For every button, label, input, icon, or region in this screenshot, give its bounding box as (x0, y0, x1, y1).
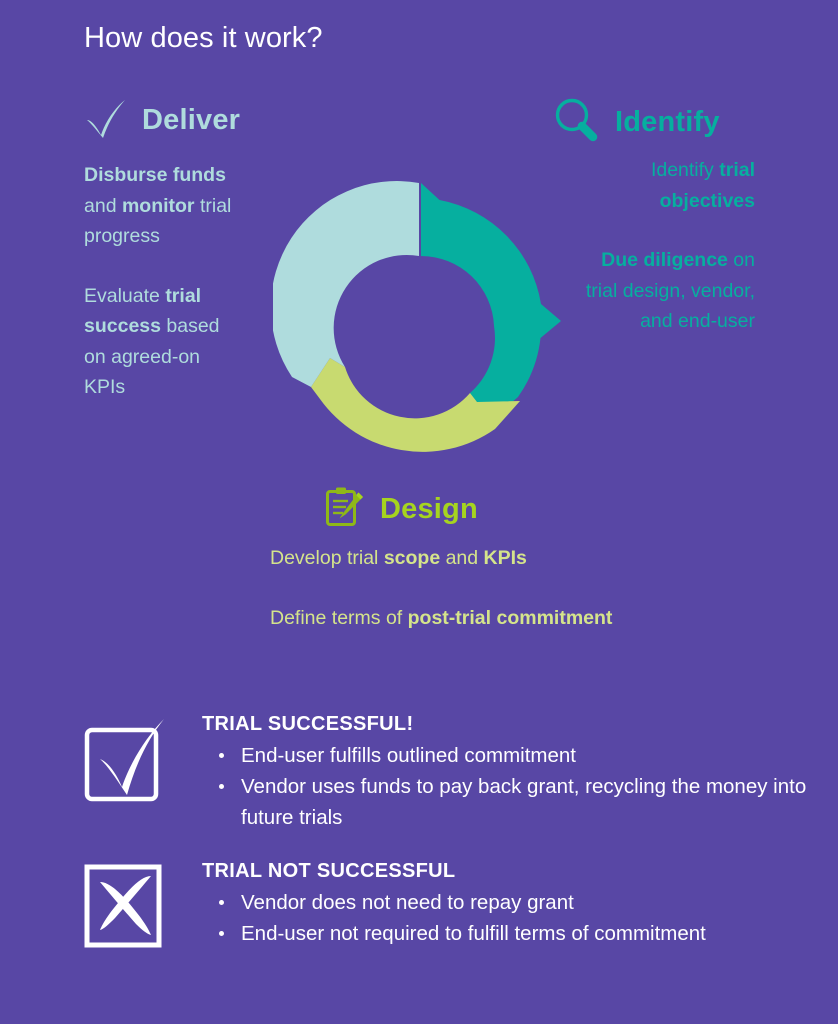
page-title: How does it work? (84, 22, 323, 55)
infographic-page: How does it work? Deliver Identify (0, 0, 838, 1024)
checked-checkbox-icon (84, 715, 168, 803)
paragraph: Disburse funds and monitor trial progres… (84, 160, 244, 252)
crossed-checkbox-icon (84, 862, 168, 950)
list-item: Vendor does not need to repay grant (202, 887, 706, 918)
outcome-trial-not-successful: TRIAL NOT SUCCESSFUL Vendor does not nee… (84, 859, 706, 950)
magnifying-glass-icon (551, 98, 601, 147)
paragraph: Evaluate trial success based on agreed-o… (84, 281, 244, 403)
list-item: End-user fulfills outlined commitment (202, 740, 838, 771)
section-heading-design: Design (322, 485, 478, 534)
section-heading-deliver: Deliver (84, 98, 240, 143)
check-mark-icon (84, 98, 128, 143)
paragraph: Define terms of post-trial commitment (270, 603, 640, 634)
section-heading-deliver-label: Deliver (142, 104, 240, 137)
section-heading-design-label: Design (380, 493, 478, 526)
cycle-segment-deliver (273, 181, 419, 387)
outcome-trial-successful: TRIAL SUCCESSFUL! End-user fulfills outl… (84, 712, 838, 833)
cycle-diagram (273, 181, 563, 471)
paragraph: Develop trial scope and KPIs (270, 543, 640, 574)
section-heading-identify: Identify (551, 98, 720, 147)
list-item: Vendor uses funds to pay back grant, rec… (202, 771, 838, 833)
outcome-bullet-list: Vendor does not need to repay grant End-… (202, 887, 706, 949)
cycle-segment-identify (421, 183, 561, 403)
identify-description: Identify trial objectivesDue diligence o… (569, 155, 755, 337)
outcome-title: TRIAL NOT SUCCESSFUL (202, 859, 706, 884)
paragraph: Identify trial objectives (569, 155, 755, 216)
paragraph: Due diligence on trial design, vendor, a… (569, 245, 755, 337)
deliver-description: Disburse funds and monitor trial progres… (84, 160, 244, 403)
clipboard-pencil-icon (322, 485, 366, 534)
section-heading-identify-label: Identify (615, 106, 720, 139)
design-description: Develop trial scope and KPIsDefine terms… (270, 543, 640, 633)
list-item: End-user not required to fulfill terms o… (202, 918, 706, 949)
outcome-bullet-list: End-user fulfills outlined commitment Ve… (202, 740, 838, 833)
outcome-title: TRIAL SUCCESSFUL! (202, 712, 838, 737)
